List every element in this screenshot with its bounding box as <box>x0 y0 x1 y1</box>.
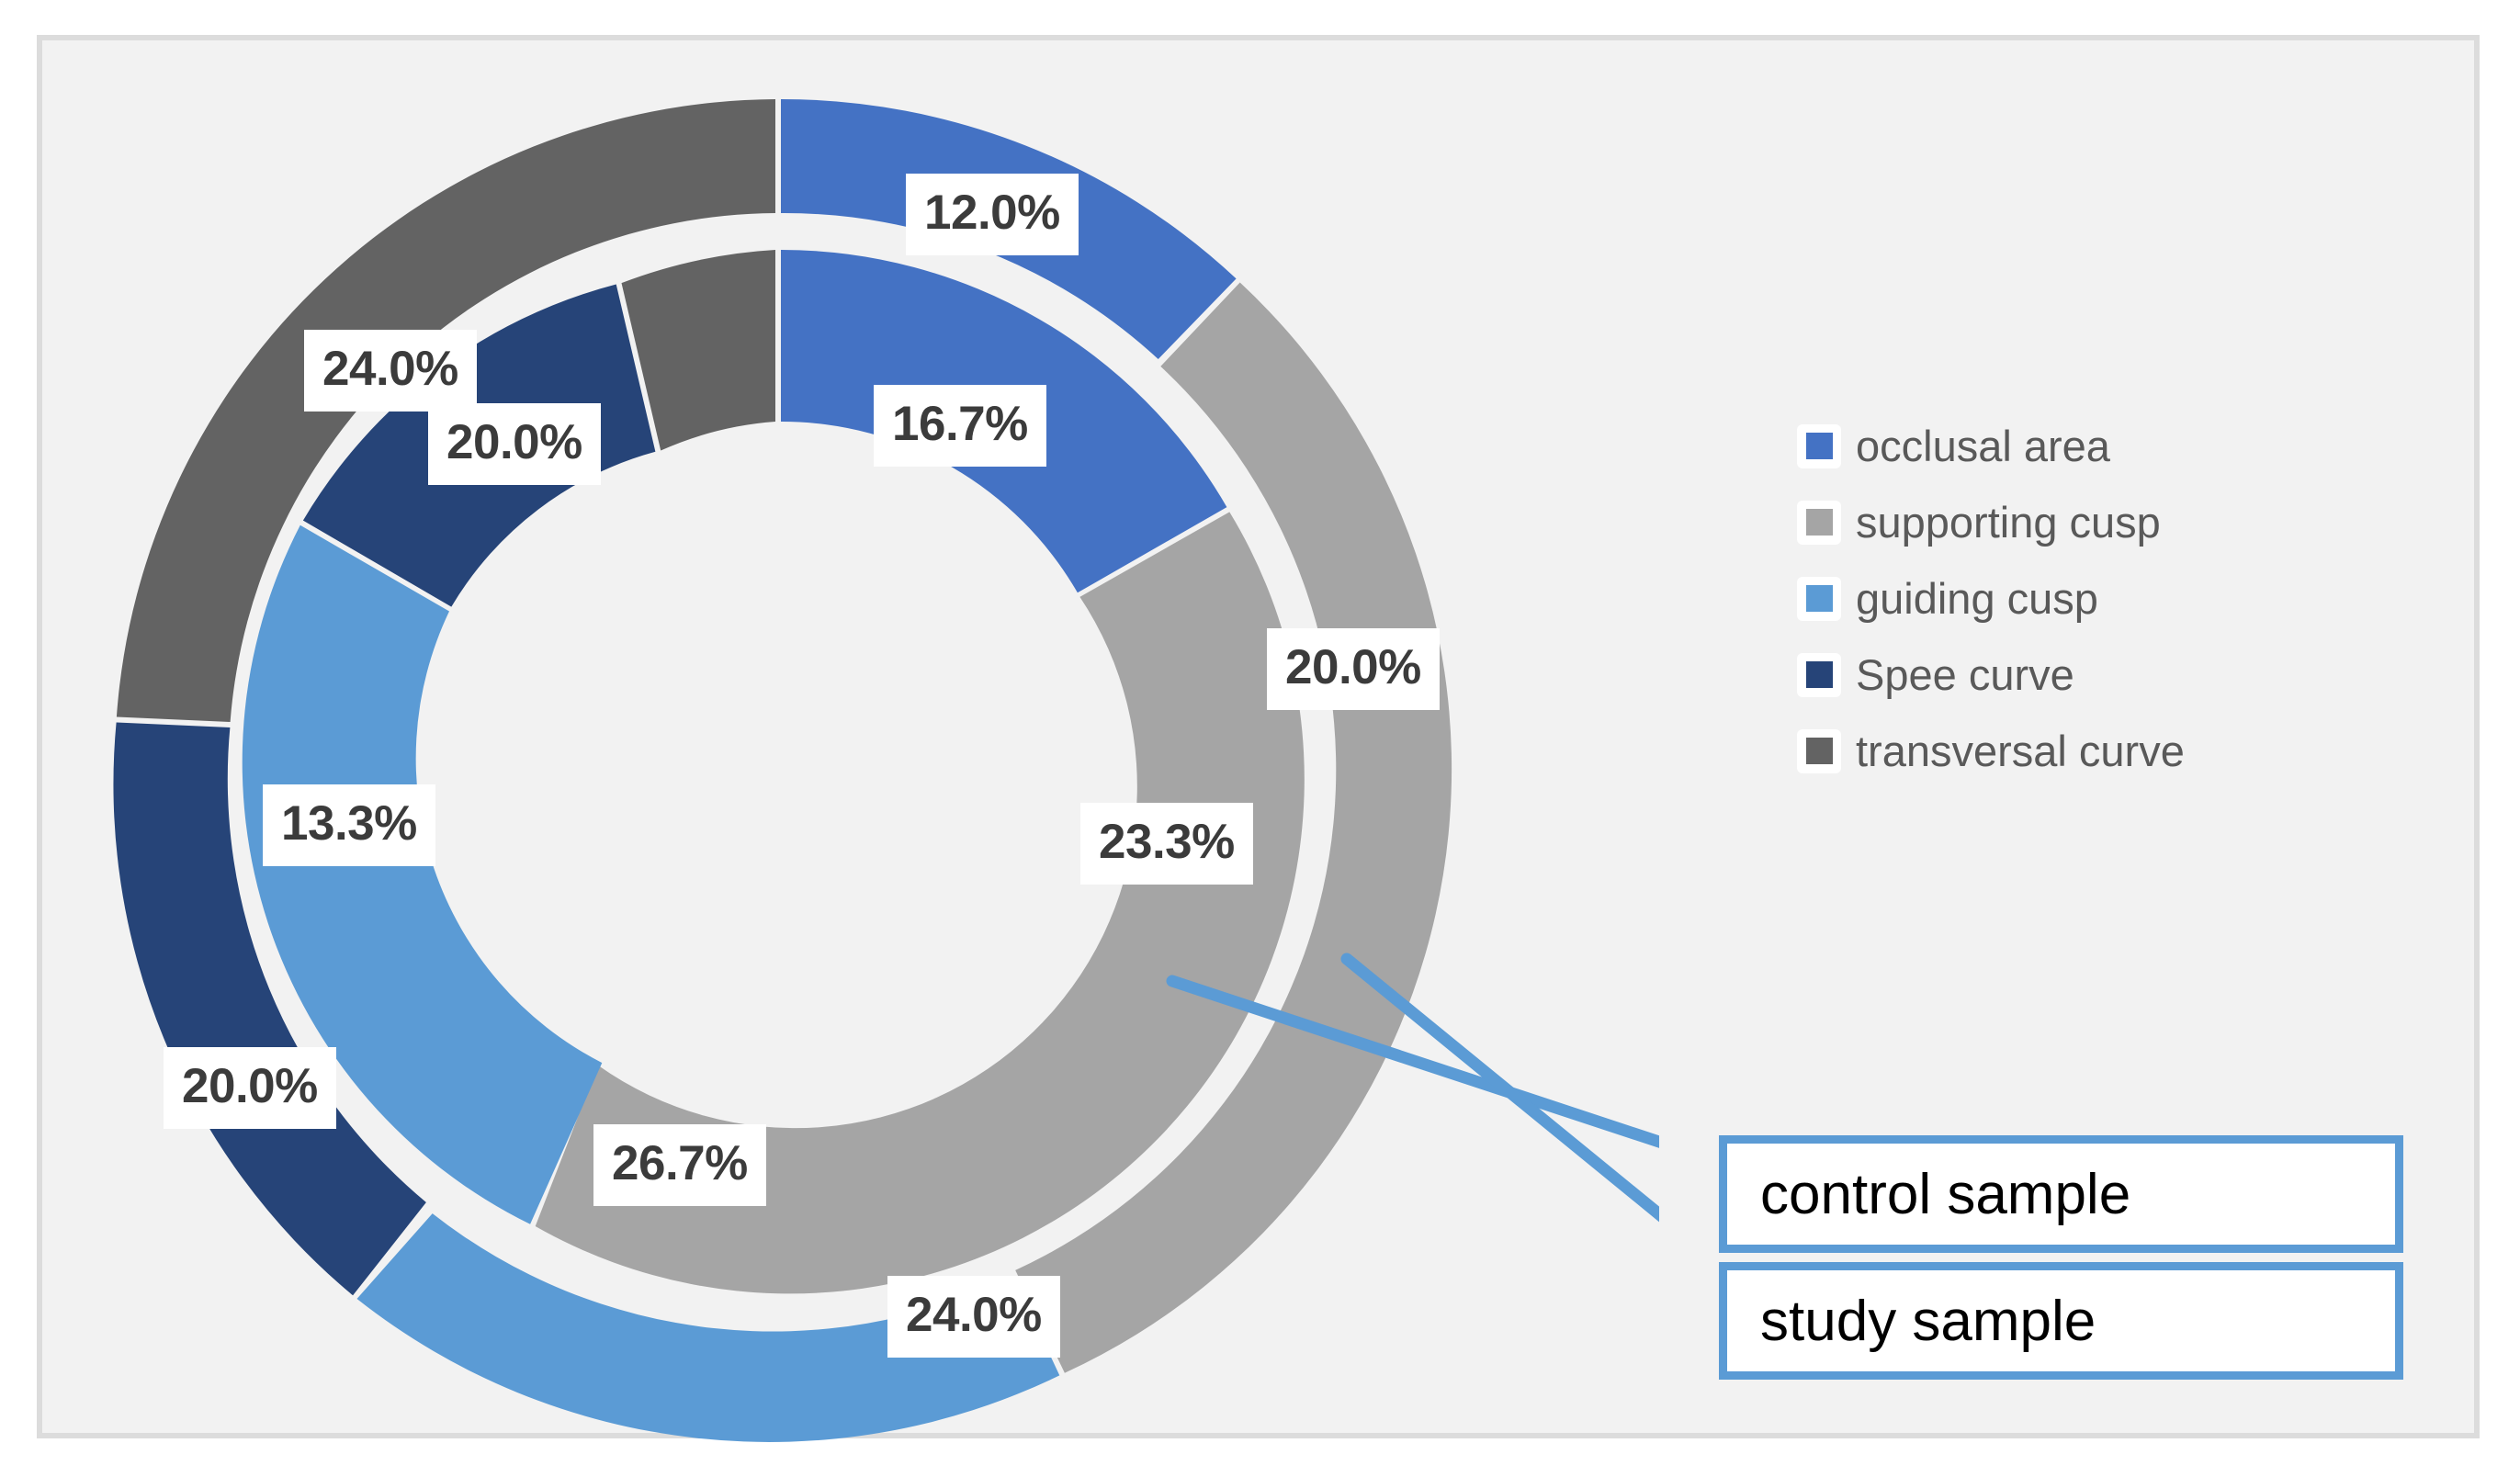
legend-swatch-icon-guiding-cusp <box>1797 577 1841 621</box>
data-label-outer-spee-curve: 20.0% <box>164 1047 336 1129</box>
data-label-outer-guiding-cusp: 24.0% <box>887 1276 1060 1358</box>
data-label-inner-guiding-cusp: 26.7% <box>593 1124 766 1206</box>
legend-item-transversal-curve[interactable]: transversal curve <box>1797 713 2385 789</box>
callout-control-sample[interactable]: control sample <box>1719 1135 2403 1253</box>
legend-item-supporting-cusp[interactable]: supporting cusp <box>1797 484 2385 560</box>
legend-swatch-icon-supporting-cusp <box>1797 501 1841 545</box>
data-label-inner-transversal-curve: 20.0% <box>428 403 601 485</box>
legend-label-transversal-curve: transversal curve <box>1856 726 2185 776</box>
legend-label-supporting-cusp: supporting cusp <box>1856 497 2161 547</box>
legend-item-spee-curve[interactable]: Spee curve <box>1797 637 2385 713</box>
legend-label-guiding-cusp: guiding cusp <box>1856 573 2098 624</box>
doughnut-svg <box>42 40 1659 1444</box>
data-label-inner-occlusal-area: 16.7% <box>874 385 1046 467</box>
legend-swatch-icon-occlusal-area <box>1797 424 1841 468</box>
data-label-inner-supporting-cusp: 23.3% <box>1080 803 1253 885</box>
doughnut-chart: 12.0% 20.0% 24.0% 20.0% 24.0% 16.7% 23.3… <box>42 40 1659 1444</box>
chart-legend: occlusal area supporting cusp guiding cu… <box>1797 408 2385 789</box>
callout-study-sample-label: study sample <box>1760 1289 2096 1354</box>
callout-control-sample-label: control sample <box>1760 1162 2130 1227</box>
legend-swatch-icon-spee-curve <box>1797 653 1841 697</box>
legend-label-spee-curve: Spee curve <box>1856 649 2074 700</box>
legend-item-guiding-cusp[interactable]: guiding cusp <box>1797 560 2385 637</box>
data-label-outer-transversal-curve: 24.0% <box>304 330 477 412</box>
leader-line-study-sample <box>1347 959 1659 1235</box>
legend-label-occlusal-area: occlusal area <box>1856 421 2110 471</box>
data-label-outer-supporting-cusp: 20.0% <box>1267 628 1440 710</box>
callout-study-sample[interactable]: study sample <box>1719 1262 2403 1380</box>
legend-item-occlusal-area[interactable]: occlusal area <box>1797 408 2385 484</box>
data-label-outer-occlusal-area: 12.0% <box>906 174 1079 255</box>
chart-frame: 12.0% 20.0% 24.0% 20.0% 24.0% 16.7% 23.3… <box>37 35 2480 1438</box>
legend-swatch-icon-transversal-curve <box>1797 729 1841 773</box>
data-label-inner-spee-curve: 13.3% <box>263 784 435 866</box>
